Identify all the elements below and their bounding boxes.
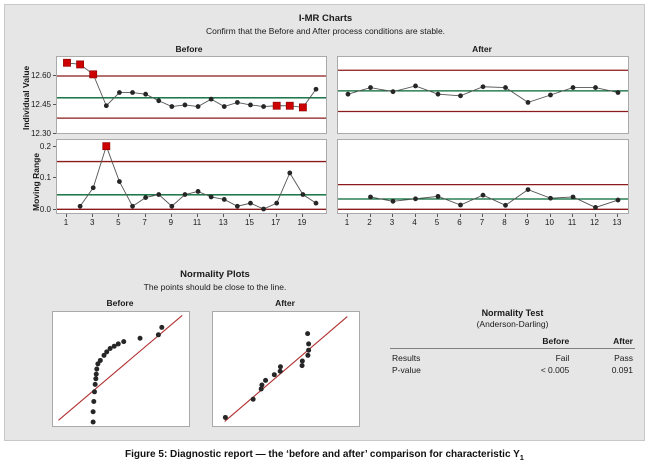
- ytick-i-1260: 12.60: [23, 71, 51, 80]
- xtick-label: 13: [213, 218, 233, 227]
- table-row: P-value < 0.005 0.091: [390, 364, 635, 376]
- figure-caption-subscript: 1: [520, 453, 524, 462]
- xtick-label: 10: [540, 218, 560, 227]
- normality-after-label: After: [210, 298, 360, 308]
- normality-test-row-after: 0.091: [571, 364, 635, 376]
- normality-plots-subtitle: The points should be close to the line.: [65, 282, 365, 292]
- xtick-label: 9: [517, 218, 537, 227]
- xtick-mark: [302, 214, 303, 217]
- xtick-label: 7: [472, 218, 492, 227]
- imr-charts-title: I-MR Charts: [5, 13, 646, 24]
- xtick-label: 8: [495, 218, 515, 227]
- table-row: Results Fail Pass: [390, 349, 635, 365]
- xtick-mark: [595, 214, 596, 217]
- normality-test-col-after: After: [571, 336, 635, 349]
- normality-test-title: Normality Test: [390, 308, 635, 318]
- normality-test-subtitle: (Anderson-Darling): [390, 319, 635, 329]
- xtick-mark: [527, 214, 528, 217]
- ytick-mr-01: 0.1: [27, 173, 51, 182]
- xtick-mark: [347, 214, 348, 217]
- imr-after-label: After: [334, 44, 630, 54]
- xtick-mark: [505, 214, 506, 217]
- chart-normality-after: [212, 311, 360, 427]
- chart-moving-range-before: [56, 139, 327, 214]
- xtick-label: 2: [360, 218, 380, 227]
- xtick-mark: [118, 214, 119, 217]
- ytick-mr-00: 0.0: [27, 205, 51, 214]
- chart-moving-range-after: [337, 139, 629, 214]
- xtick-label: 13: [607, 218, 627, 227]
- xtick-label: 3: [382, 218, 402, 227]
- xtick-label: 5: [427, 218, 447, 227]
- normality-test-row-after: Pass: [571, 349, 635, 365]
- normality-test-row-before: < 0.005: [488, 364, 571, 376]
- xtick-label: 3: [82, 218, 102, 227]
- xtick-label: 11: [562, 218, 582, 227]
- normality-before-label: Before: [50, 298, 190, 308]
- xtick-mark: [249, 214, 250, 217]
- xtick-mark: [197, 214, 198, 217]
- ytick-i-1245: 12.45: [23, 100, 51, 109]
- xtick-label: 1: [56, 218, 76, 227]
- normality-test-table: Normality Test (Anderson-Darling) Before…: [390, 308, 635, 376]
- chart-normality-before: [52, 311, 190, 427]
- xtick-label: 19: [292, 218, 312, 227]
- normality-test-row-before: Fail: [488, 349, 571, 365]
- xtick-label: 12: [585, 218, 605, 227]
- normality-test-row-label: Results: [390, 349, 488, 365]
- xtick-mark: [145, 214, 146, 217]
- xtick-mark: [223, 214, 224, 217]
- xtick-mark: [92, 214, 93, 217]
- xtick-mark: [617, 214, 618, 217]
- xtick-label: 1: [337, 218, 357, 227]
- xtick-label: 15: [239, 218, 259, 227]
- xtick-mark: [171, 214, 172, 217]
- ytick-i-1230: 12.30: [23, 129, 51, 138]
- figure-caption: Figure 5: Diagnostic report — the ‘befor…: [0, 449, 649, 462]
- xtick-label: 6: [450, 218, 470, 227]
- normality-test-row-label: P-value: [390, 364, 488, 376]
- xtick-label: 5: [108, 218, 128, 227]
- ytick-mr-02: 0.2: [27, 142, 51, 151]
- imr-charts-subtitle: Confirm that the Before and After proces…: [5, 26, 646, 36]
- normality-test-col-before: Before: [488, 336, 571, 349]
- xtick-mark: [392, 214, 393, 217]
- xtick-label: 17: [266, 218, 286, 227]
- normality-test-header-row: Before After: [390, 336, 635, 349]
- xtick-mark: [482, 214, 483, 217]
- figure-caption-text: Figure 5: Diagnostic report — the ‘befor…: [125, 449, 520, 460]
- normality-plots-title: Normality Plots: [65, 269, 365, 280]
- diagnostic-report-figure: I-MR Charts Confirm that the Before and …: [0, 0, 649, 475]
- normality-test-col-blank: [390, 336, 488, 349]
- chart-individual-value-before: [56, 56, 327, 134]
- xtick-label: 4: [405, 218, 425, 227]
- xtick-mark: [415, 214, 416, 217]
- xtick-mark: [370, 214, 371, 217]
- xtick-mark: [437, 214, 438, 217]
- xtick-label: 7: [135, 218, 155, 227]
- imr-before-label: Before: [53, 44, 325, 54]
- xtick-mark: [276, 214, 277, 217]
- chart-individual-value-after: [337, 56, 629, 134]
- xtick-label: 11: [187, 218, 207, 227]
- xtick-mark: [572, 214, 573, 217]
- xtick-mark: [460, 214, 461, 217]
- xtick-mark: [550, 214, 551, 217]
- xtick-label: 9: [161, 218, 181, 227]
- xtick-mark: [66, 214, 67, 217]
- report-panel: I-MR Charts Confirm that the Before and …: [4, 4, 645, 441]
